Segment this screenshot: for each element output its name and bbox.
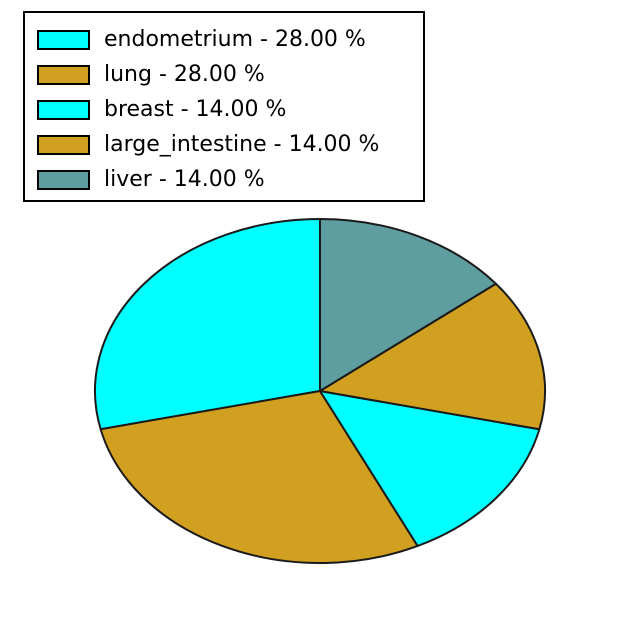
legend-label-liver: liver - 14.00 % <box>104 169 265 191</box>
legend-label-breast: breast - 14.00 % <box>104 99 286 121</box>
chart-canvas: endometrium - 28.00 % lung - 28.00 % bre… <box>0 0 640 643</box>
legend-swatch-breast <box>37 100 90 120</box>
legend-item-large-intestine[interactable]: large_intestine - 14.00 % <box>25 127 423 162</box>
legend-label-large-intestine: large_intestine - 14.00 % <box>104 134 379 156</box>
legend-label-lung: lung - 28.00 % <box>104 64 265 86</box>
legend-item-liver[interactable]: liver - 14.00 % <box>25 162 423 197</box>
legend-swatch-large-intestine <box>37 135 90 155</box>
legend-item-breast[interactable]: breast - 14.00 % <box>25 92 423 127</box>
pie-slice-group <box>95 219 545 563</box>
legend-swatch-liver <box>37 170 90 190</box>
legend-swatch-endometrium <box>37 30 90 50</box>
legend-item-endometrium[interactable]: endometrium - 28.00 % <box>25 22 423 57</box>
legend-label-endometrium: endometrium - 28.00 % <box>104 29 366 51</box>
legend-item-lung[interactable]: lung - 28.00 % <box>25 57 423 92</box>
legend: endometrium - 28.00 % lung - 28.00 % bre… <box>23 11 425 202</box>
legend-swatch-lung <box>37 65 90 85</box>
